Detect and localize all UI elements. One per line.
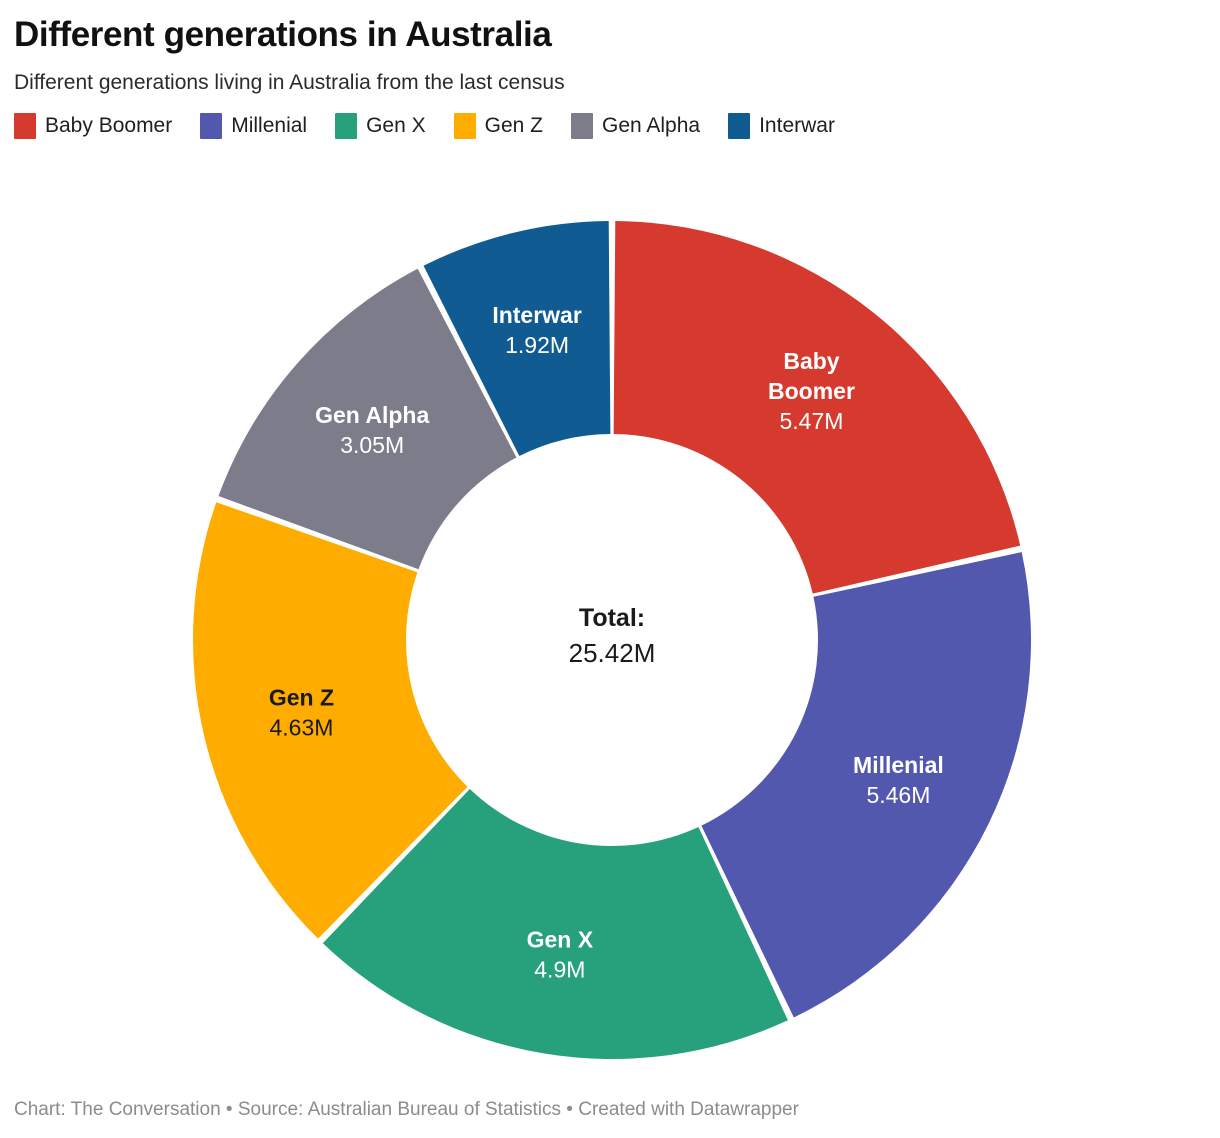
donut-slice-label: Boomer [768,378,855,404]
chart-footer: Chart: The Conversation • Source: Austra… [14,1098,799,1122]
donut-slice-value: 4.9M [534,957,585,983]
legend-swatch-icon [200,113,222,139]
legend-swatch-icon [14,113,36,139]
page-subtitle: Different generations living in Australi… [14,56,1206,96]
legend-swatch-icon [728,113,750,139]
donut-chart: BabyBoomer5.47MMillenial5.46MGen X4.9MGe… [0,186,1220,1076]
legend-item-label: Gen X [366,113,426,139]
donut-slice-label: Interwar [492,302,582,328]
legend-swatch-icon [454,113,476,139]
donut-slice-label: Gen X [527,927,594,953]
donut-center-total: Total:25.42M [569,604,656,668]
legend-item-label: Gen Alpha [602,113,700,139]
donut-total-label: Total: [579,604,645,632]
donut-slice-label: Baby [783,348,839,374]
donut-slice[interactable]: BabyBoomer5.47M [614,221,1021,594]
legend-item-label: Interwar [759,113,835,139]
donut-slice-label: Millenial [853,752,944,778]
donut-slice-value: 5.47M [779,408,843,434]
page-title: Different generations in Australia [14,0,1206,56]
legend-item[interactable]: Interwar [728,113,835,139]
legend-item-label: Baby Boomer [45,113,172,139]
legend: Baby BoomerMillenialGen XGen ZGen AlphaI… [14,96,1206,139]
donut-slice-label: Gen Alpha [315,402,429,428]
donut-slice-value: 1.92M [505,332,569,358]
legend-item[interactable]: Gen Alpha [571,113,700,139]
legend-swatch-icon [571,113,593,139]
donut-slice-value: 5.46M [866,782,930,808]
donut-total-value: 25.42M [569,638,656,668]
legend-item[interactable]: Gen Z [454,113,543,139]
donut-slice-value: 3.05M [340,432,404,458]
legend-swatch-icon [335,113,357,139]
legend-item[interactable]: Gen X [335,113,426,139]
donut-slice-label: Gen Z [269,684,334,710]
legend-item[interactable]: Baby Boomer [14,113,172,139]
donut-chart-svg: BabyBoomer5.47MMillenial5.46MGen X4.9MGe… [0,186,1220,1076]
donut-slice-value: 4.63M [269,714,333,740]
legend-item-label: Gen Z [485,113,543,139]
legend-item[interactable]: Millenial [200,113,307,139]
chart-page: Different generations in Australia Diffe… [0,0,1220,1138]
legend-item-label: Millenial [231,113,307,139]
